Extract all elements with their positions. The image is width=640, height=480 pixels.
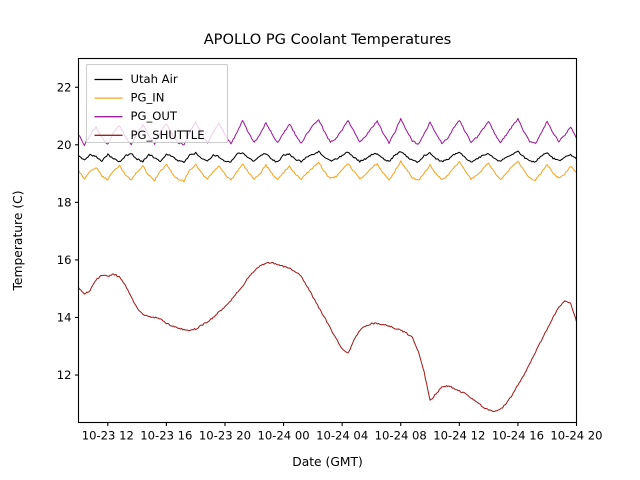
x-tick-label: 10-24 04: [316, 429, 368, 443]
x-tick-label: 10-23 20: [199, 429, 251, 443]
x-tick-label: 10-24 08: [375, 429, 427, 443]
y-tick-label: 16: [57, 253, 72, 267]
x-tick-label: 10-24 00: [257, 429, 309, 443]
x-tick-label: 10-24 12: [433, 429, 485, 443]
chart-title: APOLLO PG Coolant Temperatures: [204, 31, 452, 48]
chart-canvas: APOLLO PG Coolant TemperaturesDate (GMT)…: [0, 0, 640, 480]
y-tick-label: 14: [57, 311, 72, 325]
x-tick-label: 10-23 16: [140, 429, 192, 443]
x-tick-label: 10-23 12: [82, 429, 134, 443]
y-tick-label: 12: [57, 368, 72, 382]
y-axis-label: Temperature (C): [11, 191, 25, 292]
x-tick-label: 10-24 16: [492, 429, 544, 443]
matplotlib-figure: APOLLO PG Coolant TemperaturesDate (GMT)…: [0, 0, 640, 480]
y-tick-label: 18: [57, 196, 72, 210]
y-tick-label: 20: [57, 138, 72, 152]
legend-label-pg-shuttle: PG_SHUTTLE: [131, 128, 205, 142]
legend: Utah AirPG_INPG_OUTPG_SHUTTLE: [87, 65, 228, 143]
legend-label-pg-out: PG_OUT: [131, 109, 178, 123]
x-axis-label: Date (GMT): [292, 455, 363, 469]
y-tick-label: 22: [57, 80, 72, 94]
x-tick-label: 10-24 20: [550, 429, 602, 443]
legend-label-utah-air: Utah Air: [131, 72, 178, 86]
legend-label-pg-in: PG_IN: [131, 91, 165, 105]
